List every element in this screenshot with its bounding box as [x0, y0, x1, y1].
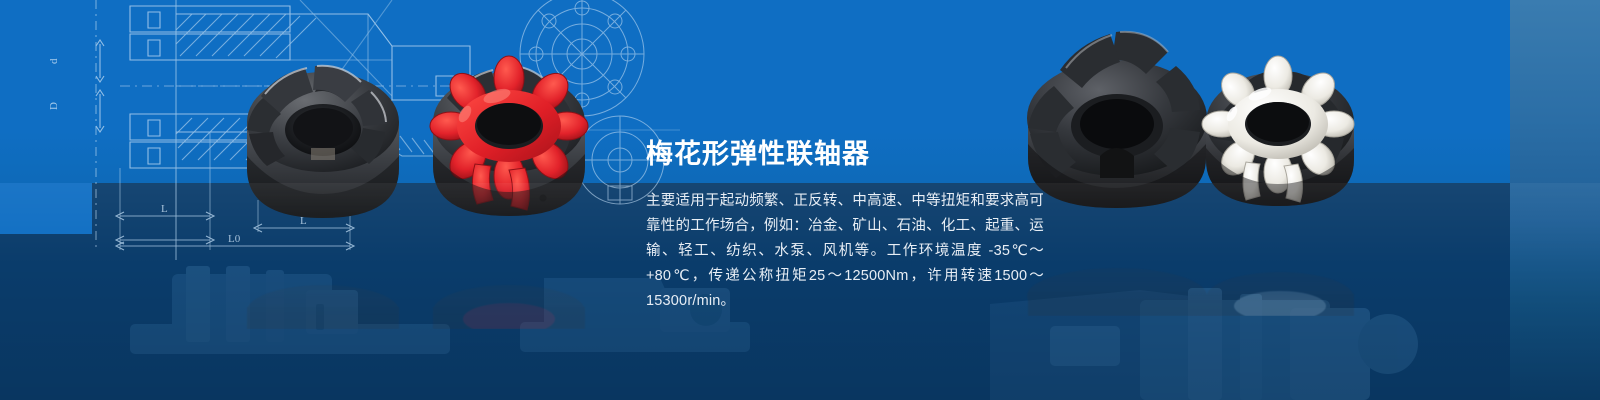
blueprint-label-D: D [48, 102, 60, 110]
blueprint-label-L0: L0 [228, 233, 241, 245]
product-banner: d D D1 L L L0 [0, 0, 1600, 400]
blueprint-label-L: L [161, 203, 168, 215]
banner-description: 主要适用于起动频繁、正反转、中高速、中等扭矩和要求高可靠性的工作场合，例如：冶金… [646, 189, 1044, 314]
page-title: 梅花形弹性联轴器 [646, 139, 1076, 169]
banner-copy-block: 梅花形弹性联轴器 主要适用于起动频繁、正反转、中高速、中等扭矩和要求高可靠性的工… [646, 139, 1076, 314]
description-paragraph: 主要适用于起动频繁、正反转、中高速、中等扭矩和要求高可靠性的工作场合，例如：冶金… [646, 189, 1044, 314]
coupling-hub-plain [247, 66, 399, 218]
blueprint-label-d: d [48, 58, 60, 64]
background-right-edge [1510, 0, 1600, 400]
coupling-hub-white-spider [1202, 56, 1354, 206]
product-photo-left-pair [225, 18, 625, 233]
coupling-hub-red-spider [430, 56, 588, 216]
